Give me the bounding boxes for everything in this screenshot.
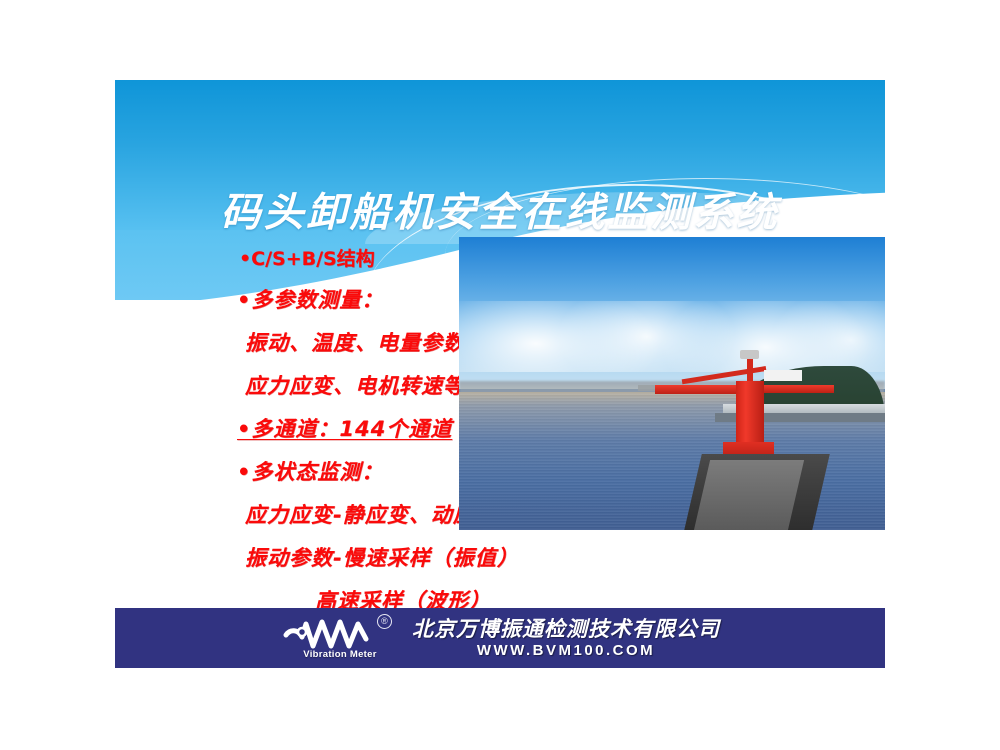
company-name-cn: 北京万博振通检测技术有限公司 [412, 617, 720, 641]
photo-crane-cab [740, 350, 759, 359]
photo-crane-sign [764, 370, 802, 381]
slide-title: 码头卸船机安全在线监测系统 [115, 180, 885, 238]
slide-canvas: 码头卸船机安全在线监测系统 •C/S+B/S结构 •多参数测量： 振动、温度、电… [0, 0, 1000, 750]
photo-pier-rail [694, 460, 804, 530]
company-logo: ® Vibration Meter [280, 615, 400, 661]
company-website: WWW.BVM100.COM [477, 642, 655, 659]
presentation-slide: 码头卸船机安全在线监测系统 •C/S+B/S结构 •多参数测量： 振动、温度、电… [115, 80, 885, 668]
photo-clouds [459, 301, 885, 371]
footer-content: ® Vibration Meter 北京万博振通检测技术有限公司 WWW.BVM… [115, 608, 885, 668]
footer-text-block: 北京万博振通检测技术有限公司 WWW.BVM100.COM [412, 617, 720, 659]
bullet-detail-vibration: 振动参数-慢速采样（振值） [245, 546, 577, 570]
logo-subtitle: Vibration Meter [288, 649, 392, 660]
footer-bar: ® Vibration Meter 北京万博振通检测技术有限公司 WWW.BVM… [115, 608, 885, 668]
photo-crane-arm-right [757, 385, 834, 393]
harbor-crane-photo [459, 237, 885, 530]
registered-trademark-icon: ® [377, 614, 392, 629]
